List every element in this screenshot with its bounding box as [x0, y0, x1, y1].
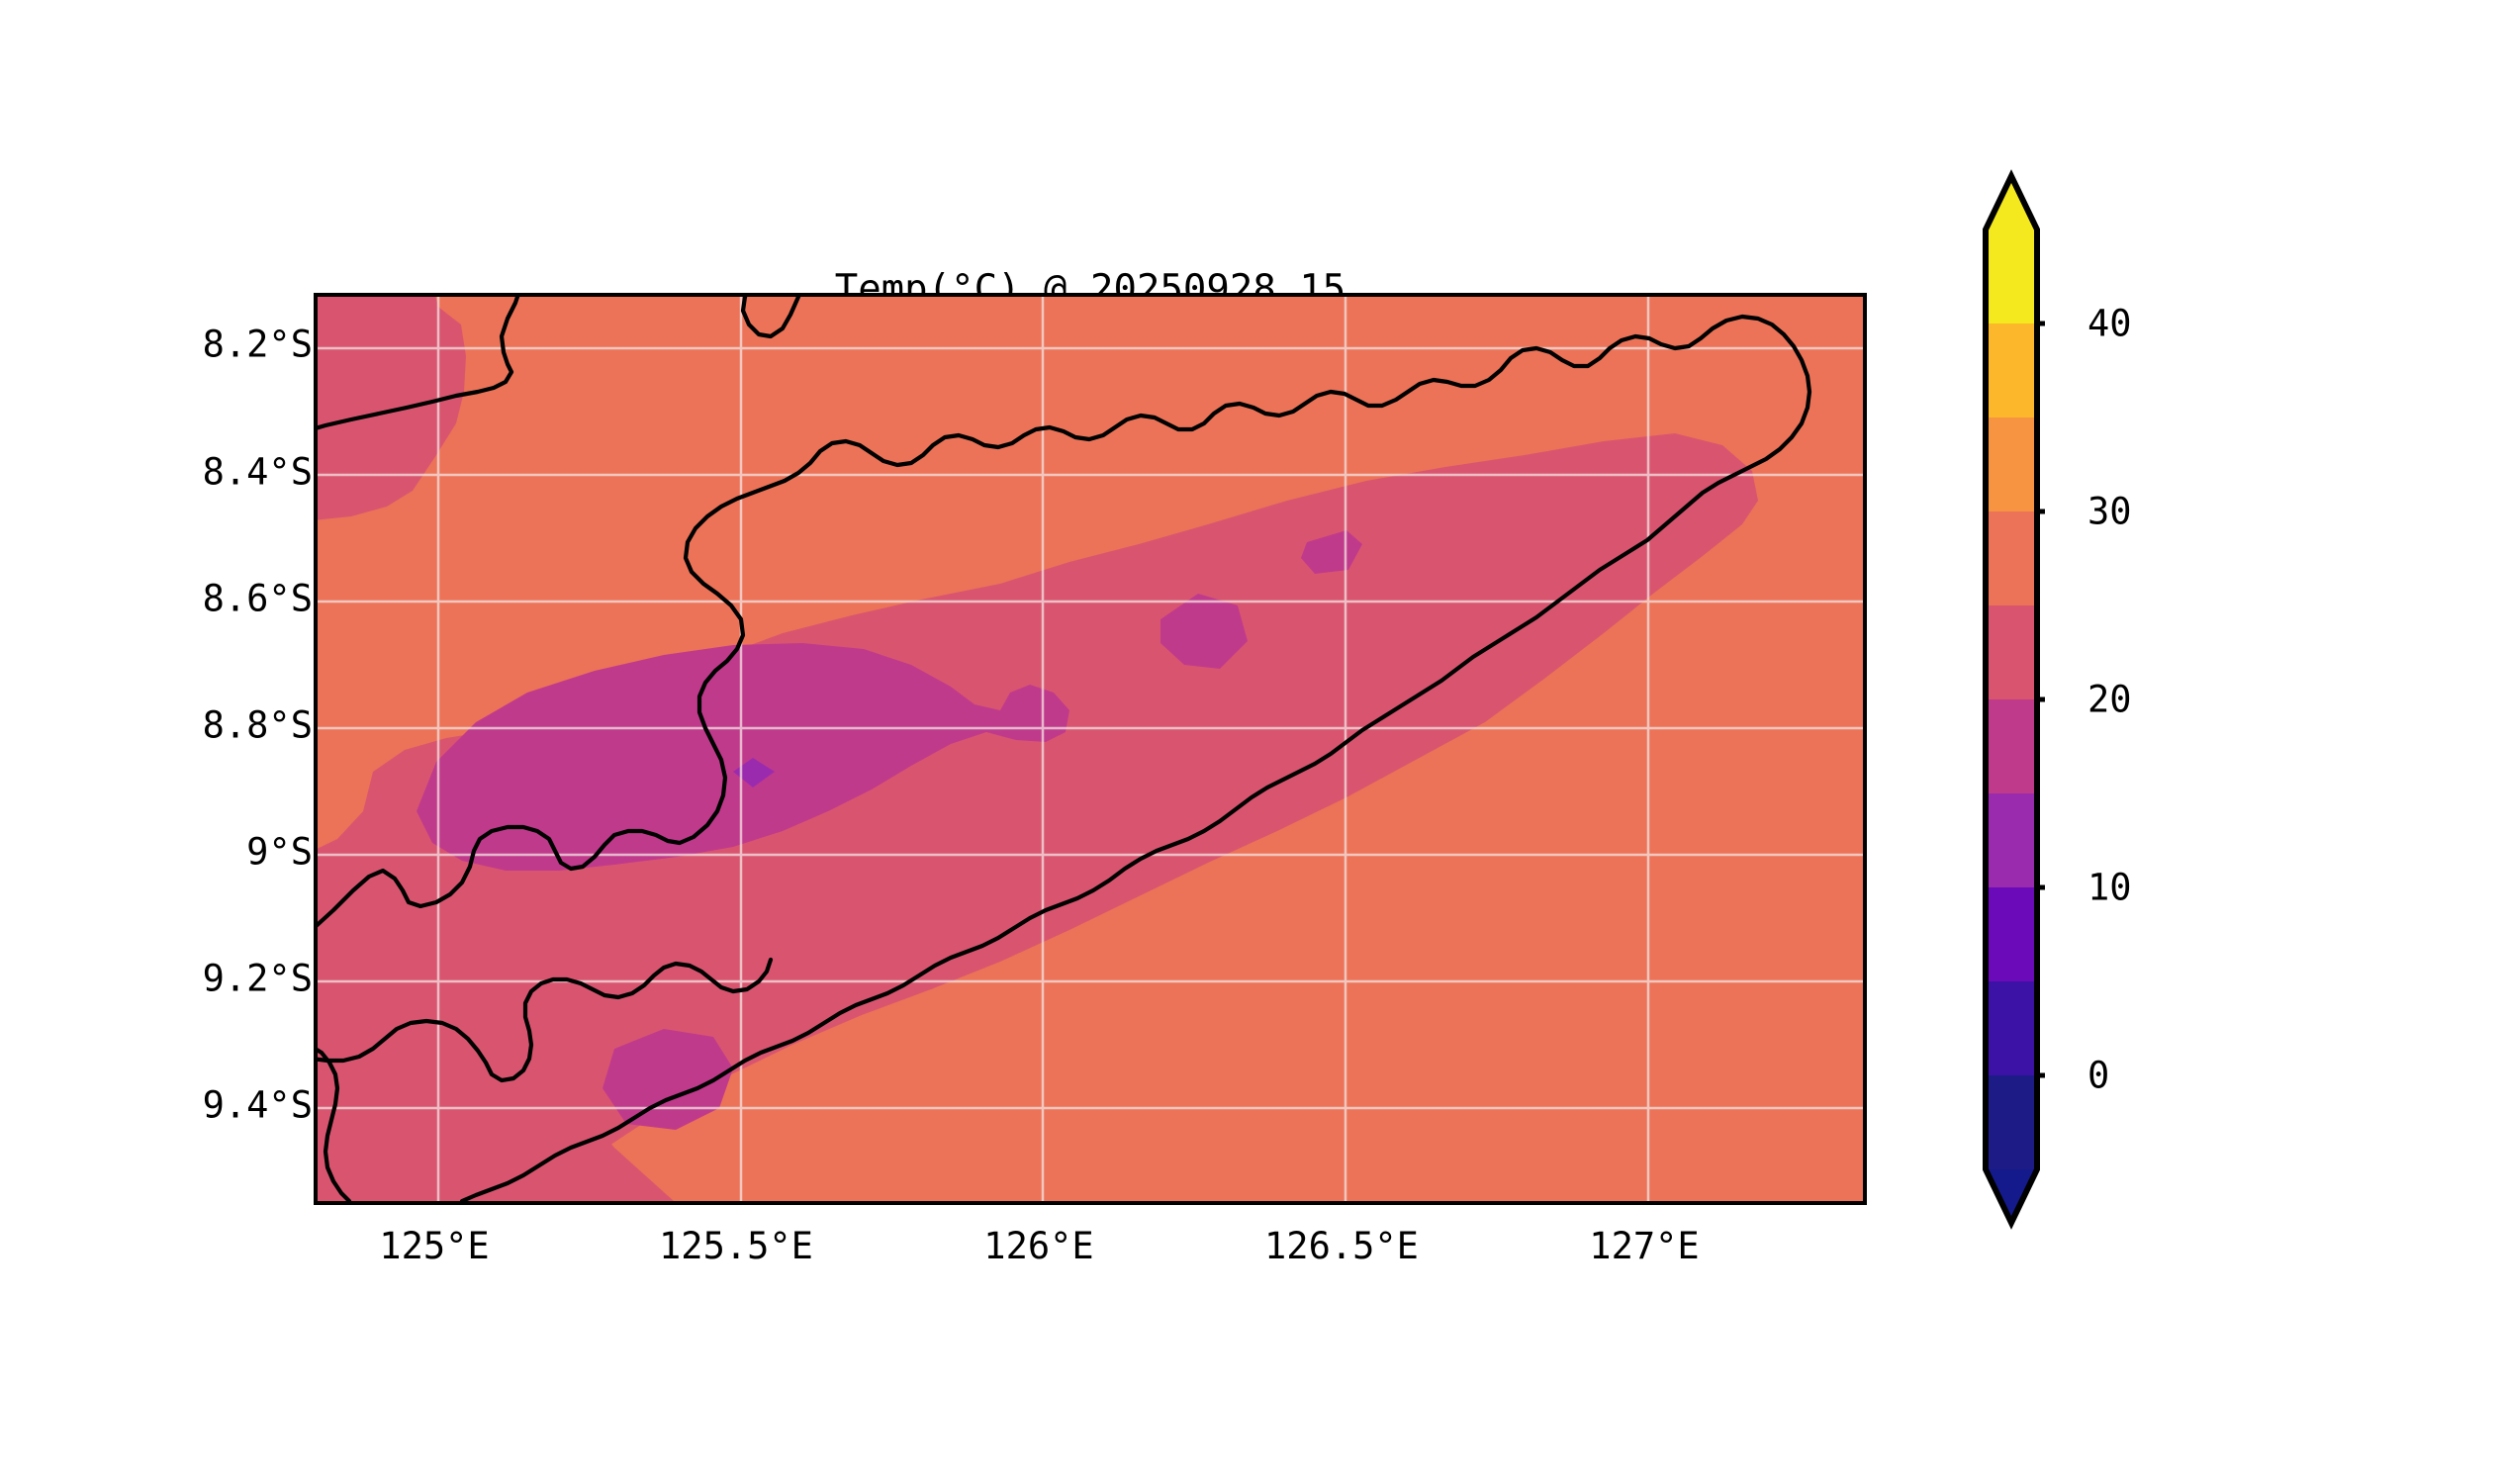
- colorbar-band-0-5: [1986, 981, 2037, 1075]
- ytick-label-8.6S: 8.6°S: [203, 578, 313, 620]
- colorbar-band-minus5-0: [1986, 1075, 2037, 1169]
- ytick-label-9.2S: 9.2°S: [203, 958, 313, 1000]
- colorbar-band-35-40: [1986, 324, 2037, 417]
- colorbar-over-arrow: [1986, 176, 2037, 230]
- colorbar[interactable]: [1982, 168, 2045, 1336]
- temperature-contour-map: [318, 297, 1863, 1201]
- xtick-label-126.5E: 126.5°E: [1264, 1225, 1419, 1267]
- colorbar-svg: [1982, 168, 2045, 1336]
- ytick-label-9.4S: 9.4°S: [203, 1084, 313, 1127]
- colorbar-tick-label-30: 30: [2087, 491, 2132, 533]
- colorbar-band-20-25: [1986, 605, 2037, 699]
- colorbar-tick-label-0: 0: [2087, 1055, 2109, 1097]
- colorbar-tick-label-10: 10: [2087, 867, 2132, 909]
- xtick-label-126E: 126°E: [983, 1225, 1093, 1267]
- colorbar-band-30-35: [1986, 417, 2037, 511]
- colorbar-band-5-10: [1986, 887, 2037, 981]
- colorbar-band-10-15: [1986, 793, 2037, 887]
- xtick-label-125.5E: 125.5°E: [659, 1225, 813, 1267]
- ytick-label-8.2S: 8.2°S: [203, 324, 313, 366]
- colorbar-tick-label-20: 20: [2087, 679, 2132, 721]
- ytick-label-8.8S: 8.8°S: [203, 704, 313, 747]
- colorbar-under-arrow: [1986, 1169, 2037, 1223]
- map-plot-area[interactable]: [314, 293, 1867, 1205]
- colorbar-band-15-20: [1986, 699, 2037, 793]
- figure-canvas: Temp(°C) @ 20250928_15 Simulation Time: …: [0, 0, 2504, 1484]
- ytick-label-9S: 9°S: [246, 831, 313, 874]
- colorbar-tick-label-40: 40: [2087, 303, 2132, 345]
- ytick-label-8.4S: 8.4°S: [203, 451, 313, 494]
- colorbar-band-40-45: [1986, 230, 2037, 324]
- xtick-label-127E: 127°E: [1589, 1225, 1699, 1267]
- xtick-label-125E: 125°E: [379, 1225, 489, 1267]
- colorbar-band-25-30: [1986, 511, 2037, 605]
